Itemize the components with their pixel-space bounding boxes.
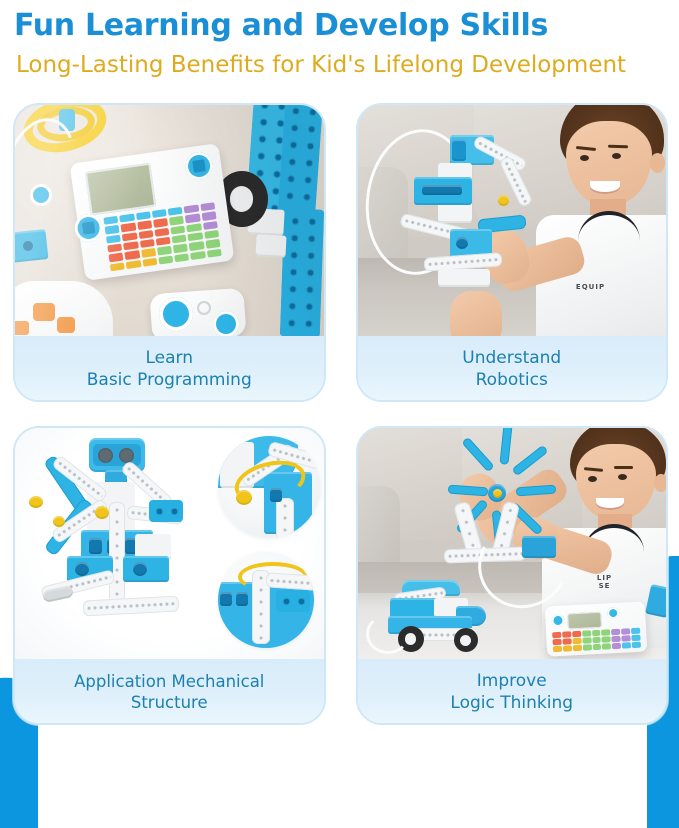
cable-clip [59, 109, 75, 131]
card-image-improve-logic-thinking: LIPSE [358, 428, 667, 659]
white-sheet [15, 281, 113, 336]
orange-brick-a [33, 303, 55, 321]
caption-line-1: Learn [145, 347, 193, 369]
illustration-couch-boy-windmill: LIPSE [358, 428, 667, 659]
robot-core-hole [456, 237, 468, 249]
robot-eye-right [119, 448, 134, 463]
boy-eye-right [612, 153, 621, 159]
card-image-understand-robotics: EQUIP [358, 105, 667, 336]
card-caption-improve-logic-thinking: Improve Logic Thinking [358, 659, 667, 725]
table-controller-keypad [552, 628, 641, 653]
robot-hip-slot-a [89, 538, 102, 554]
blue-connector-pin [33, 187, 49, 203]
blue-stud-rail-a [274, 105, 322, 250]
card-caption-understand-robotics: Understand Robotics [358, 336, 667, 402]
boy-ear [654, 474, 667, 492]
robot-base-white [438, 269, 490, 287]
benefit-card-application-mechanical-structure: Application Mechanical Structure [13, 426, 326, 725]
boy-eye-left [588, 476, 597, 482]
orange-brick-c [15, 321, 29, 335]
robot-body-stripe [422, 185, 462, 195]
robot-wheel [216, 171, 268, 227]
card-caption-application-mechanical-structure: Application Mechanical Structure [15, 659, 324, 725]
handheld-blue-module [522, 536, 556, 558]
robot-build [394, 133, 564, 309]
wheel-hub [230, 186, 254, 212]
windmill-blade-4 [515, 485, 556, 497]
illustration-studio-mechanical [15, 428, 324, 659]
controller-dpad-left [73, 212, 105, 244]
detail2-slot-a [220, 592, 232, 606]
robot-leg-hole-right [133, 562, 147, 576]
boy-eye-left [580, 155, 589, 161]
blue-stud-rail-b [245, 105, 285, 214]
page-subtitle: Long-Lasting Benefits for Kid's Lifelong… [0, 43, 660, 80]
windmill-hub-pin [493, 489, 502, 498]
mechanical-robot-model [31, 438, 211, 656]
boy-ear [650, 153, 665, 173]
card-caption-learn-basic-programming: Learn Basic Programming [15, 336, 324, 402]
robot-leg-beam-vertical [109, 502, 125, 606]
remote-indicator [197, 301, 211, 315]
table-controller [544, 601, 646, 656]
detail-slot [270, 488, 282, 502]
robot-leg-hole-left [75, 562, 89, 576]
page-title: Fun Learning and Develop Skills [0, 0, 679, 43]
benefit-card-learn-basic-programming: Learn Basic Programming [13, 103, 326, 402]
table-controller-screen [567, 612, 602, 630]
blue-stud-rail-c [279, 208, 323, 336]
benefit-card-grid: Learn Basic Programming [0, 80, 679, 725]
vehicle-wheel-front [454, 628, 478, 652]
windmill-blade-1 [461, 437, 494, 473]
benefit-card-understand-robotics: EQUIP [356, 103, 669, 402]
white-brick-chassis [247, 208, 284, 236]
linkage-pin-yellow-a [29, 496, 43, 508]
robot-foot-beam-base [83, 596, 180, 617]
vehicle-wire [366, 614, 410, 654]
caption-line-1: Understand [462, 347, 561, 369]
white-wire-right [190, 105, 287, 211]
robot-yellow-pin [498, 195, 509, 206]
detail-yellow-pin [236, 490, 252, 505]
motor-axle-hole [19, 237, 37, 255]
caption-line-1: Application Mechanical [74, 671, 264, 692]
boy-shirt-graphic: LIPSE [572, 574, 638, 590]
table-controller-dpad-right [606, 607, 619, 620]
caption-line-2: Basic Programming [87, 369, 252, 391]
linkage-pin-yellow-c [95, 506, 109, 519]
windmill-blade-6 [447, 485, 488, 497]
caption-line-1: Improve [477, 670, 547, 692]
orange-brick-b [57, 317, 75, 333]
detail2-stud-plate [276, 590, 310, 612]
boy-eye-right [618, 474, 627, 480]
remote-joystick [158, 296, 194, 332]
illustration-desk-controller [15, 105, 324, 336]
table-controller-dpad-left [551, 614, 565, 628]
robot-vehicle [378, 580, 512, 656]
controller-dpad-right [183, 150, 215, 182]
card-image-application-mechanical-structure [15, 428, 324, 659]
boy-smile [590, 181, 620, 194]
robot-head-detail [452, 139, 466, 161]
boy-smile [596, 498, 624, 510]
white-brick-chassis-2 [255, 234, 286, 258]
detail-circle-upper [218, 436, 320, 538]
white-wire-left [15, 109, 86, 221]
remote-control [149, 288, 246, 336]
detail2-slot-b [236, 592, 248, 606]
blue-motor-block [15, 229, 48, 263]
robot-arm-plate [149, 500, 183, 522]
detail-beam-vertical [276, 498, 294, 538]
yellow-cable-coil-inner [35, 105, 97, 145]
windmill-blade-3 [511, 445, 548, 477]
controller-keypad [103, 202, 221, 271]
illustration-couch-boy-robot: EQUIP [358, 105, 667, 336]
caption-line-2: Robotics [476, 369, 548, 391]
card-image-learn-basic-programming [15, 105, 324, 336]
boy-shirt-graphic: EQUIP [564, 283, 618, 291]
caption-line-2: Logic Thinking [450, 692, 573, 714]
programming-controller [70, 143, 235, 281]
linkage-pin-yellow-b [53, 516, 65, 527]
page-root: Fun Learning and Develop Skills Long-Las… [0, 0, 679, 725]
remote-button [213, 311, 239, 336]
benefit-card-improve-logic-thinking: LIPSE [356, 426, 669, 725]
robot-eye-left [98, 448, 113, 463]
caption-line-2: Structure [131, 692, 208, 713]
detail-circle-lower [218, 552, 314, 648]
yellow-cable-coil [18, 105, 112, 160]
controller-screen [85, 163, 156, 216]
boy-brow-right [614, 466, 633, 469]
